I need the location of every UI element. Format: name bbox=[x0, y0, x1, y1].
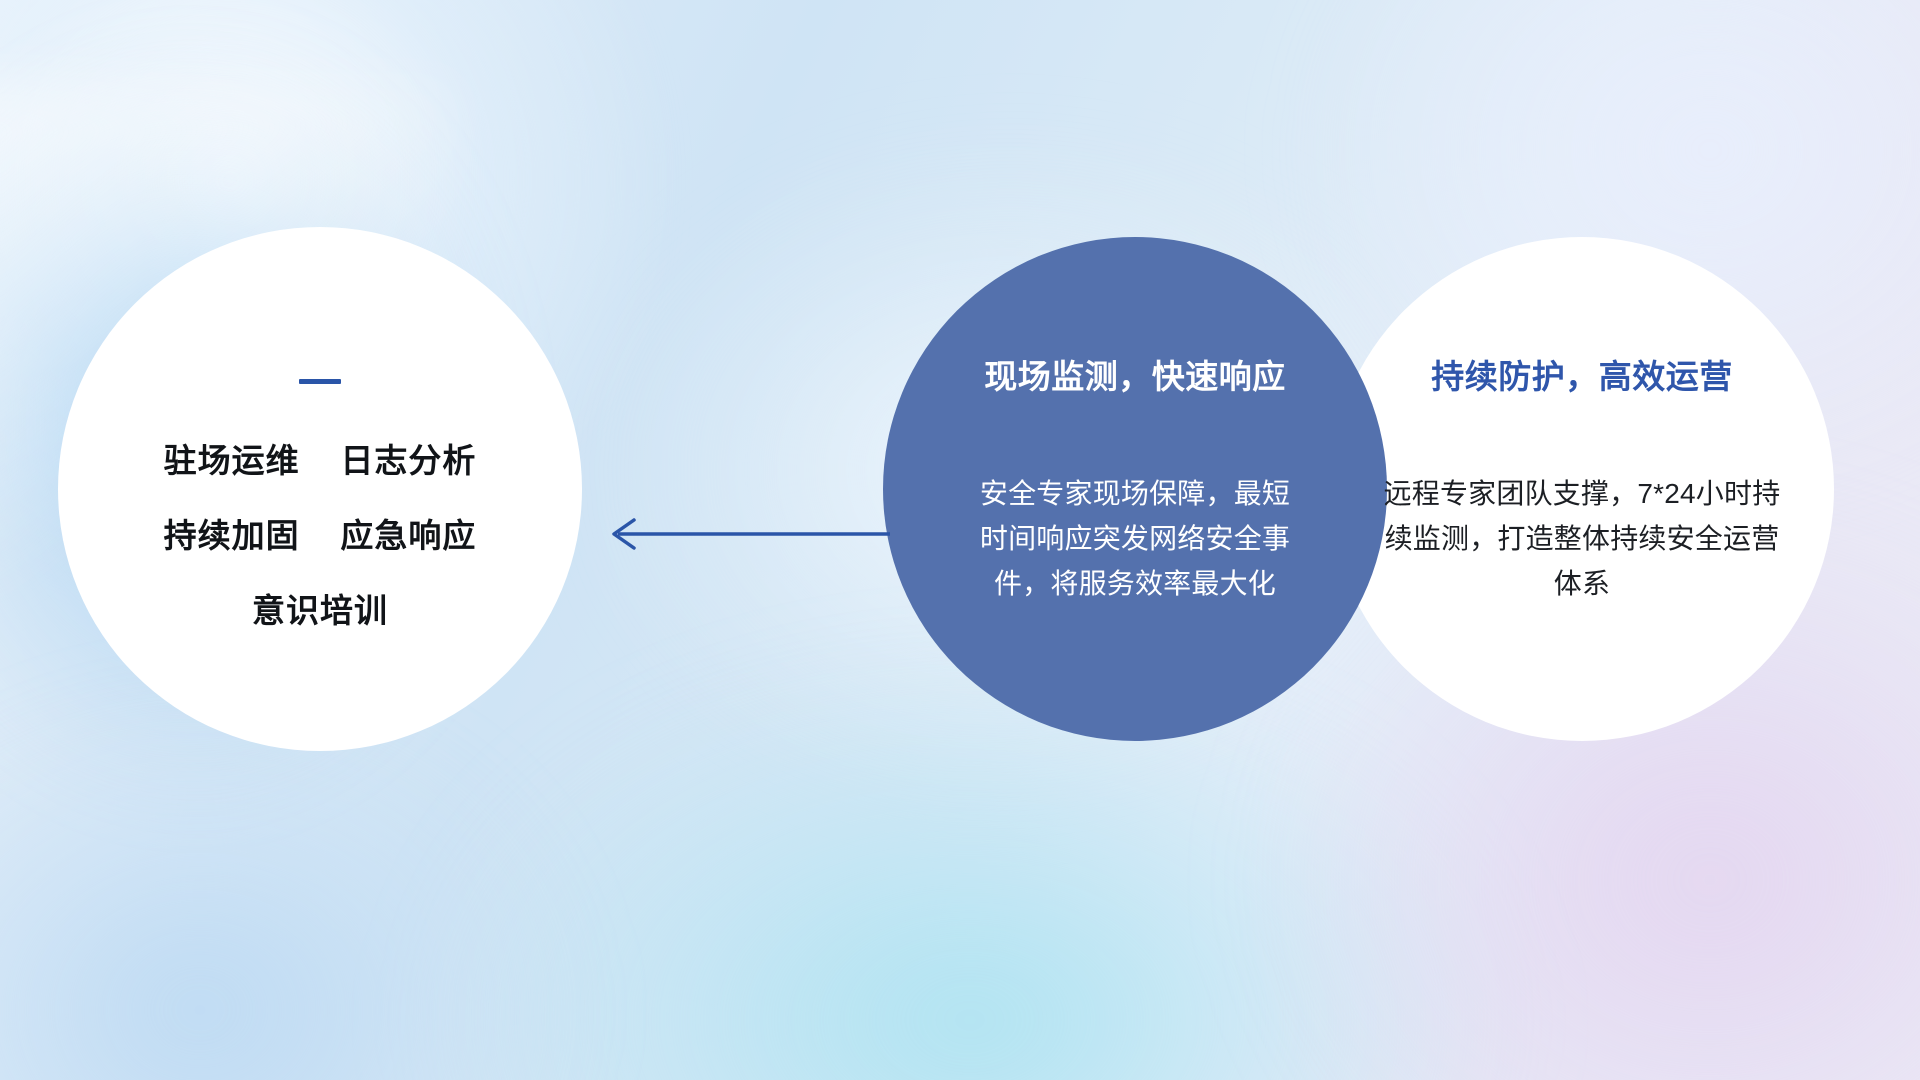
middle-circle-content: 现场监测，快速响应 安全专家现场保障，最短时间响应突发网络安全事件，将服务效率最… bbox=[883, 237, 1387, 741]
slide-canvas: 驻场运维 日志分析 持续加固 应急响应 意识培训 现场监测，快速响应 安全专家现… bbox=[0, 0, 1920, 1080]
left-keyword-line-1: 驻场运维 日志分析 bbox=[164, 444, 477, 477]
middle-body-text: 安全专家现场保障，最短时间响应突发网络安全事件，将服务效率最大化 bbox=[970, 471, 1300, 607]
right-circle-content: 持续防护，高效运营 远程专家团队支撑，7*24小时持续监测，打造整体持续安全运营… bbox=[1330, 237, 1834, 741]
left-keyword-line-2: 持续加固 应急响应 bbox=[164, 519, 477, 552]
middle-heading: 现场监测，快速响应 bbox=[984, 357, 1286, 397]
left-divider-rule bbox=[299, 379, 341, 384]
right-heading: 持续防护，高效运营 bbox=[1431, 357, 1733, 397]
right-body-text: 远程专家团队支撑，7*24小时持续监测，打造整体持续安全运营体系 bbox=[1376, 471, 1788, 607]
left-keyword-line-3: 意识培训 bbox=[252, 594, 388, 627]
left-circle-content: 驻场运维 日志分析 持续加固 应急响应 意识培训 bbox=[58, 227, 582, 751]
background-glow-bottom-left bbox=[0, 700, 580, 1080]
connector-arrow-icon bbox=[600, 512, 890, 556]
